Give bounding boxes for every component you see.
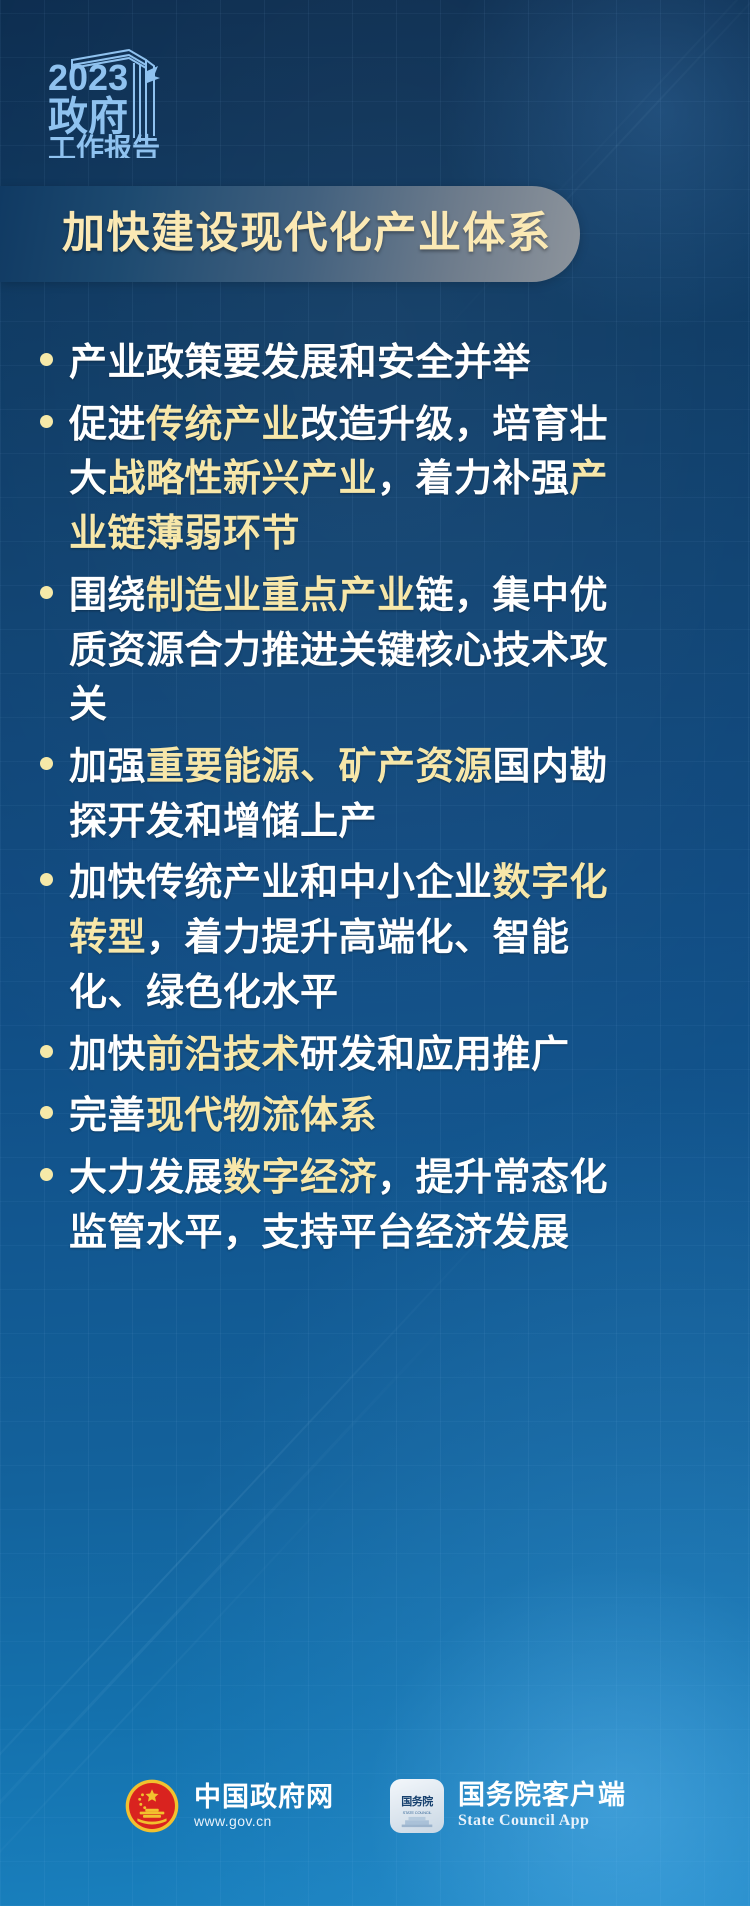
highlighted-phrase: 现代物流体系 (146, 1095, 377, 1137)
highlighted-phrase: 数字经济 (223, 1157, 377, 1199)
highlighted-phrase: 传统产业 (146, 404, 300, 446)
policy-list: 产业政策要发展和安全并举促进传统产业改造升级，培育壮大战略性新兴产业，着力补强产… (34, 336, 634, 1268)
plain-phrase: 产业政策要发展和安全并举 (69, 342, 531, 384)
list-item-text: 加强重要能源、矿产资源国内勘探开发和增储上产 (69, 740, 634, 849)
plain-phrase: 完善 (69, 1095, 146, 1137)
title-banner: 加快建设现代化产业体系 (0, 186, 580, 282)
brand-text: 国务院客户端 State Council App (458, 1780, 626, 1831)
state-council-app-icon: 国务院 STATE COUNCIL (390, 1779, 444, 1833)
list-item: 加强重要能源、矿产资源国内勘探开发和增储上产 (34, 740, 634, 849)
report-logo: 2023 政府 工作报告 (34, 38, 194, 158)
list-item-text: 加快传统产业和中小企业数字化转型，着力提升高端化、智能化、绿色化水平 (69, 856, 634, 1020)
page-title: 加快建设现代化产业体系 (62, 213, 552, 256)
list-item-text: 促进传统产业改造升级，培育壮大战略性新兴产业，着力补强产业链薄弱环节 (69, 398, 634, 562)
list-item-text: 围绕制造业重点产业链，集中优质资源合力推进关键核心技术攻关 (69, 569, 634, 733)
logo-year: 2023 (48, 57, 128, 98)
brand-gov-cn[interactable]: 中国政府网 www.gov.cn (124, 1778, 334, 1834)
footer: 中国政府网 www.gov.cn 国务院 STATE COUNCIL 国务院客户… (0, 1778, 750, 1834)
list-item-text: 完善现代物流体系 (69, 1089, 634, 1144)
list-item: 加快前沿技术研发和应用推广 (34, 1028, 634, 1083)
bullet-dot-icon (40, 353, 53, 366)
list-item-text: 加快前沿技术研发和应用推广 (69, 1028, 634, 1083)
brand-subtitle: State Council App (458, 1811, 626, 1832)
brand-text: 中国政府网 www.gov.cn (194, 1782, 334, 1830)
app-icon-label: 国务院 (401, 1797, 433, 1808)
plain-phrase: 围绕 (69, 575, 146, 617)
brand-name: 国务院客户端 (458, 1780, 626, 1810)
brand-state-council-app[interactable]: 国务院 STATE COUNCIL 国务院客户端 State Council A… (390, 1779, 626, 1833)
highlighted-phrase: 前沿技术 (146, 1034, 300, 1076)
list-item: 促进传统产业改造升级，培育壮大战略性新兴产业，着力补强产业链薄弱环节 (34, 398, 634, 562)
list-item-text: 大力发展数字经济，提升常态化监管水平，支持平台经济发展 (69, 1151, 634, 1260)
brand-subtitle: www.gov.cn (194, 1812, 334, 1830)
list-item: 加快传统产业和中小企业数字化转型，着力提升高端化、智能化、绿色化水平 (34, 856, 634, 1020)
plain-phrase: 加快 (69, 1034, 146, 1076)
brand-name: 中国政府网 (194, 1782, 334, 1812)
list-item: 大力发展数字经济，提升常态化监管水平，支持平台经济发展 (34, 1151, 634, 1260)
plain-phrase: ，着力补强 (377, 458, 570, 500)
app-icon-label-en: STATE COUNCIL (403, 1810, 432, 1815)
bullet-dot-icon (40, 1106, 53, 1119)
poster: 2023 政府 工作报告 加快建设现代化产业体系 产业政策要发展和安全并举促进传… (0, 0, 750, 1906)
highlighted-phrase: 制造业重点产业 (146, 575, 416, 617)
national-emblem-icon (124, 1778, 180, 1834)
bullet-dot-icon (40, 757, 53, 770)
list-item-text: 产业政策要发展和安全并举 (69, 336, 634, 391)
highlighted-phrase: 战略性新兴产业 (108, 458, 378, 500)
list-item: 产业政策要发展和安全并举 (34, 336, 634, 391)
plain-phrase: 加强 (69, 746, 146, 788)
list-item: 围绕制造业重点产业链，集中优质资源合力推进关键核心技术攻关 (34, 569, 634, 733)
bullet-dot-icon (40, 1168, 53, 1181)
tiananmen-icon (400, 1815, 434, 1829)
plain-phrase: 促进 (69, 404, 146, 446)
bullet-dot-icon (40, 873, 53, 886)
bullet-dot-icon (40, 415, 53, 428)
plain-phrase: 研发和应用推广 (300, 1034, 570, 1076)
bullet-dot-icon (40, 586, 53, 599)
bullet-dot-icon (40, 1045, 53, 1058)
plain-phrase: 大力发展 (69, 1157, 223, 1199)
logo-line2: 工作报告 (48, 133, 160, 158)
book-icon: 2023 政府 工作报告 (34, 38, 194, 158)
plain-phrase: 加快传统产业和中小企业 (69, 862, 493, 904)
highlighted-phrase: 重要能源、矿产资源 (146, 746, 493, 788)
list-item: 完善现代物流体系 (34, 1089, 634, 1144)
